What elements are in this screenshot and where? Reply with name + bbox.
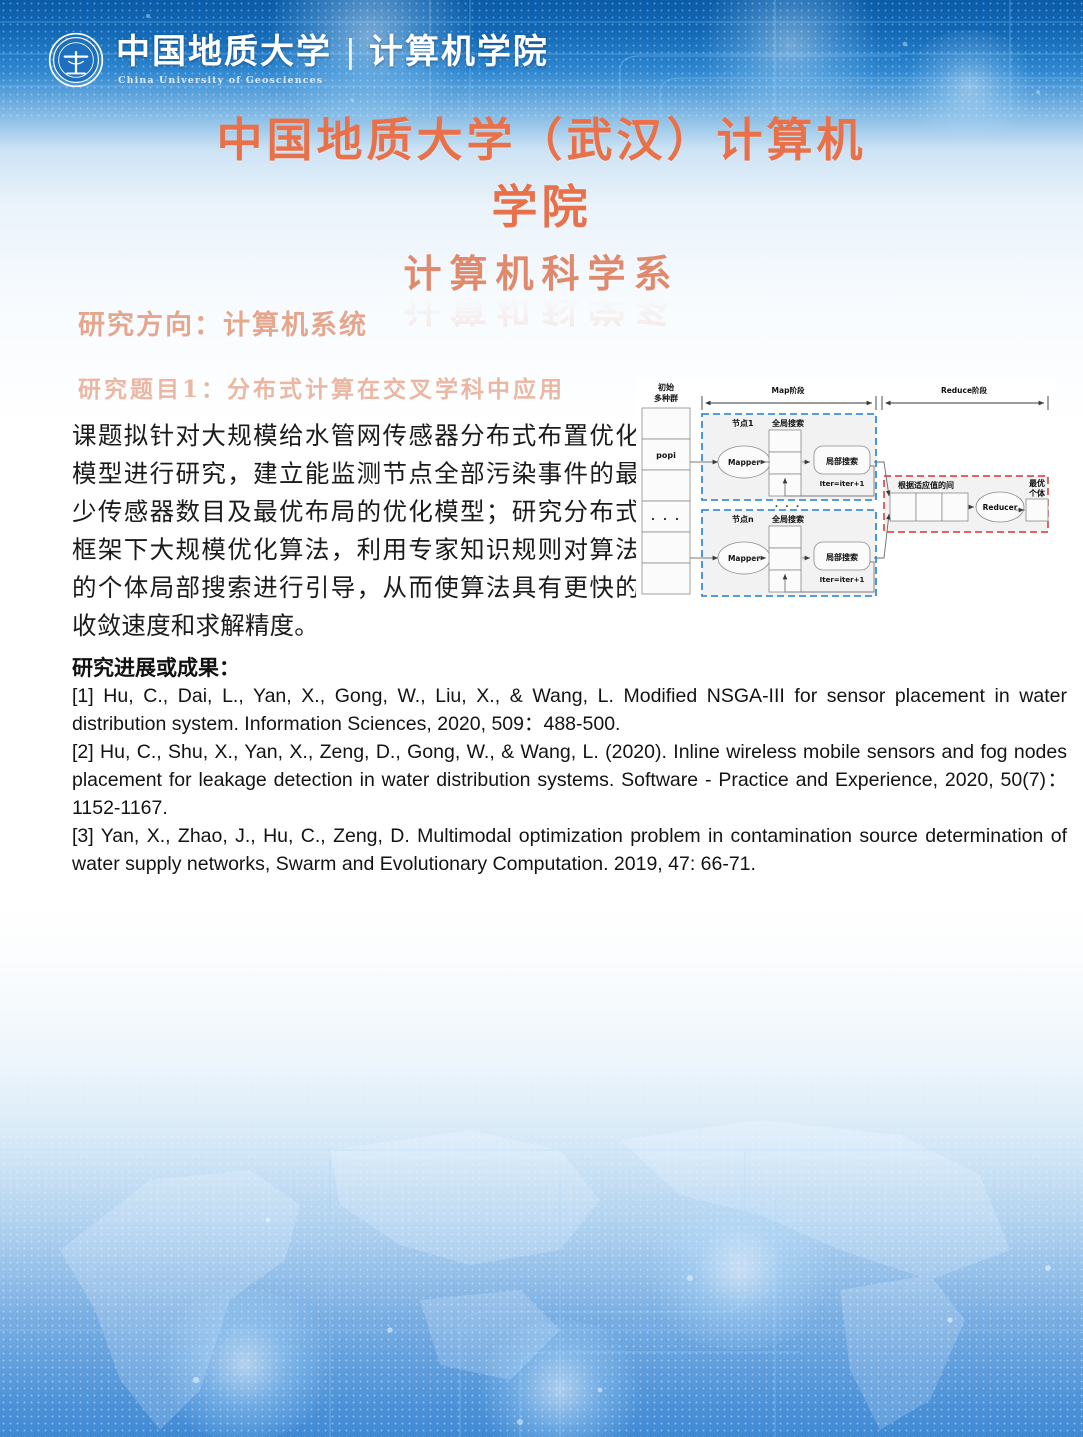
- reference-list: [1] Hu, C., Dai, L., Yan, X., Gong, W., …: [72, 683, 1067, 880]
- svg-text:全局搜索: 全局搜索: [771, 514, 804, 524]
- mapreduce-flow-diagram: 初始 多种群 popi . . . Map阶段 Reduce阶段: [636, 378, 1056, 608]
- logo-english-name: China University of Geosciences: [116, 76, 549, 86]
- svg-text:. . .: . . .: [775, 500, 802, 510]
- glow-bottom-mid: [470, 1320, 650, 1437]
- reference-item-1: [1] Hu, C., Dai, L., Yan, X., Gong, W., …: [72, 683, 1067, 738]
- reference-item-2: [2] Hu, C., Shu, X., Yan, X., Zeng, D., …: [72, 739, 1067, 822]
- research-description-paragraph: 课题拟针对大规模给水管网传感器分布式布置优化模型进行研究，建立能监测节点全部污染…: [72, 418, 640, 646]
- svg-text:节点n: 节点n: [732, 514, 754, 524]
- svg-text:. . .: . . .: [651, 510, 681, 523]
- header-logo: 中国地质大学 | 计算机学院 China University of Geosc…: [48, 32, 549, 88]
- svg-text:Mapper: Mapper: [728, 554, 760, 563]
- svg-text:初始: 初始: [658, 382, 674, 392]
- svg-text:Iter=iter+1: Iter=iter+1: [820, 576, 865, 584]
- research-topic-title: 研究题目1：分布式计算在交叉学科中应用: [78, 370, 565, 404]
- svg-text:个体: 个体: [1028, 488, 1046, 498]
- logo-college-name: 计算机学院: [369, 35, 549, 69]
- svg-text:多种群: 多种群: [654, 393, 678, 403]
- logo-university-name: 中国地质大学: [116, 35, 332, 69]
- world-map-continents: [0, 1000, 1083, 1437]
- svg-text:根据适应值的间: 根据适应值的间: [898, 480, 954, 490]
- world-map-dots-bottom: [0, 1000, 1083, 1437]
- svg-text:全局搜索: 全局搜索: [771, 418, 804, 428]
- logo-divider: |: [346, 35, 355, 69]
- glow-bottom-left: [150, 1290, 340, 1437]
- svg-text:popi: popi: [656, 451, 676, 460]
- research-direction-label: 研究方向：计算机系统: [78, 303, 368, 342]
- reference-item-3: [3] Yan, X., Zhao, J., Hu, C., Zeng, D. …: [72, 823, 1067, 878]
- glow-top-right: [690, 0, 890, 120]
- svg-text:最优: 最优: [1029, 478, 1045, 488]
- svg-text:Iter=iter+1: Iter=iter+1: [820, 480, 865, 488]
- diagram-svg: 初始 多种群 popi . . . Map阶段 Reduce阶段: [636, 378, 1056, 608]
- svg-text:Reducer: Reducer: [983, 503, 1018, 512]
- svg-text:Reduce阶段: Reduce阶段: [941, 385, 988, 395]
- svg-text:Mapper: Mapper: [728, 458, 760, 467]
- svg-text:节点1: 节点1: [732, 418, 754, 428]
- glow-bottom-right: [640, 1190, 840, 1350]
- svg-text:局部搜索: 局部搜索: [825, 456, 858, 466]
- cug-emblem-icon: [48, 32, 104, 88]
- poster-canvas: 中国地质大学 | 计算机学院 China University of Geosc…: [0, 0, 1083, 1437]
- tech-lines-bottom: [0, 1030, 1083, 1437]
- poster-department-title: 计算机科学系: [0, 243, 1083, 298]
- results-heading: 研究进展或成果：: [72, 652, 240, 682]
- svg-text:Map阶段: Map阶段: [772, 385, 805, 395]
- svg-text:局部搜索: 局部搜索: [825, 552, 858, 562]
- poster-main-title: 中国地质大学（武汉）计算机 学院: [0, 107, 1083, 240]
